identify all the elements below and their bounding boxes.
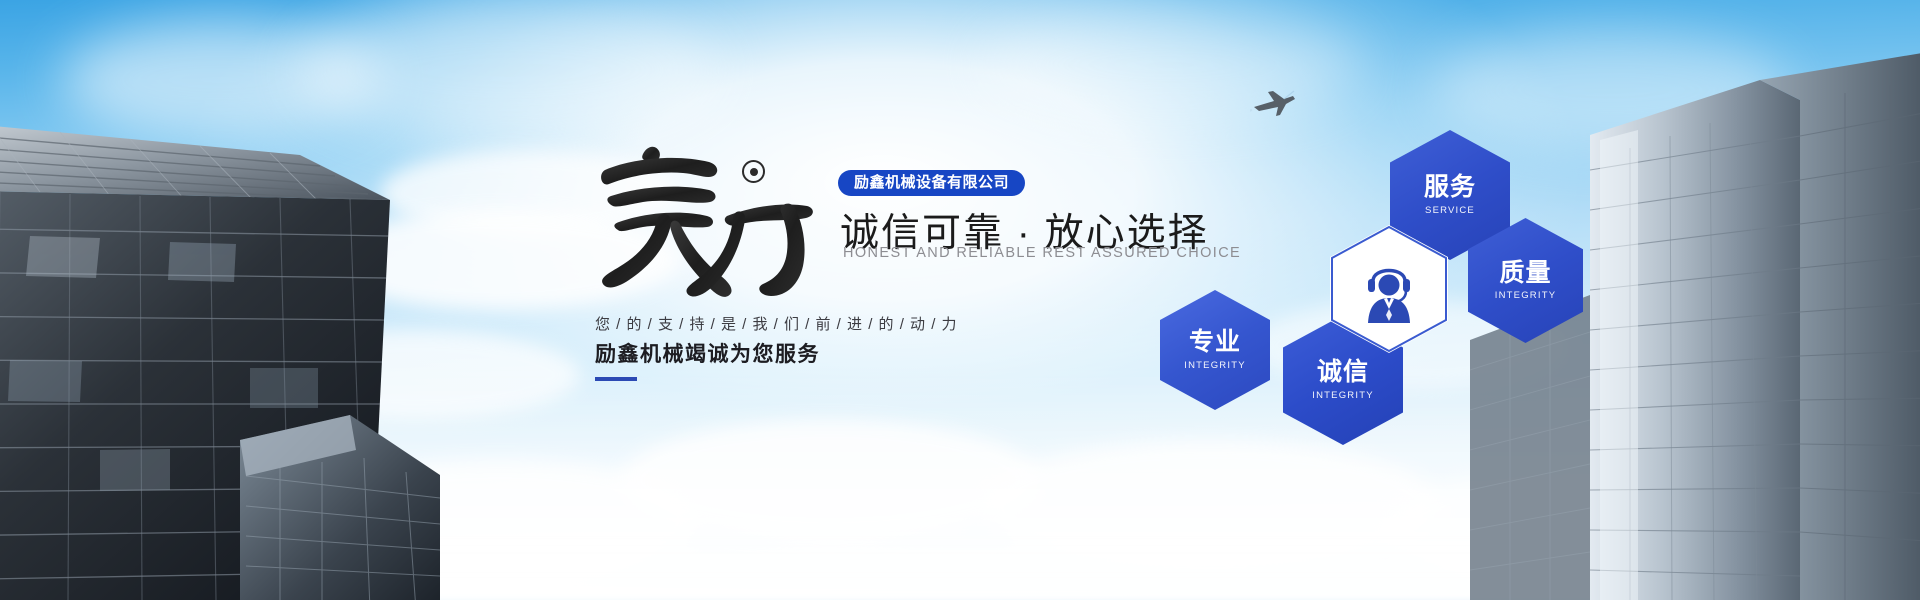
hex-label-en: INTEGRITY: [1495, 290, 1556, 301]
hex-label-cn: 诚信: [1317, 359, 1369, 385]
hex-label-cn: 专业: [1189, 329, 1241, 355]
hero-calligraphy-shili: [585, 140, 825, 310]
hex-label-en: SERVICE: [1425, 205, 1475, 216]
subtitle-spaced: 您 / 的 / 支 / 持 / 是 / 我 / 们 / 前 / 进 / 的 / …: [595, 313, 958, 334]
promotional-banner: 励鑫机械设备有限公司 诚信可靠 · 放心选择 HONEST AND RELIAB…: [0, 0, 1920, 600]
company-name-badge: 励鑫机械设备有限公司: [838, 170, 1025, 196]
hex-badge-professional[interactable]: 专业 INTEGRITY: [1160, 290, 1270, 410]
subtitle-main: 励鑫机械竭诚为您服务: [595, 338, 820, 368]
slogan-english: HONEST AND RELIABLE REST ASSURED CHOICE: [843, 245, 1241, 261]
registered-dot-icon: [742, 160, 765, 183]
hex-label-cn: 服务: [1424, 174, 1476, 200]
customer-service-agent-icon: [1358, 255, 1420, 323]
hex-label-en: INTEGRITY: [1312, 390, 1373, 401]
hex-label-cn: 质量: [1499, 260, 1551, 286]
hex-label-en: INTEGRITY: [1184, 360, 1245, 371]
accent-rule: [595, 377, 637, 381]
